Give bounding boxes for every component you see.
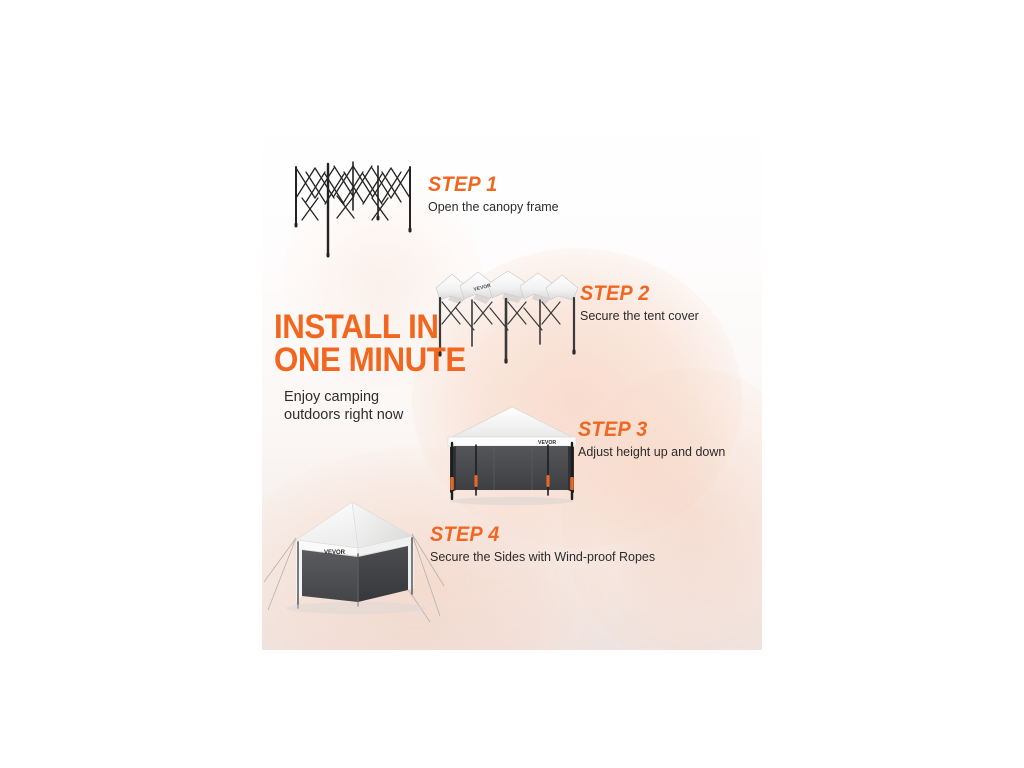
step-2-text-block: STEP 2 Secure the tent cover xyxy=(580,283,699,325)
headline-block: INSTALL IN ONE MINUTE Enjoy camping outd… xyxy=(274,311,482,425)
infographic-stage: VEVOR xyxy=(0,0,1024,768)
brand-mark-step4: VEVOR xyxy=(324,550,346,556)
step-3-description: Adjust height up and down xyxy=(578,445,725,461)
headline-line-1: INSTALL IN xyxy=(274,311,466,344)
step-2-title: STEP 2 xyxy=(580,283,692,304)
step-1-text-block: STEP 1 Open the canopy frame xyxy=(428,174,559,216)
step-3-text-block: STEP 3 Adjust height up and down xyxy=(578,419,725,461)
step-3-title: STEP 3 xyxy=(578,419,717,440)
step-4-text-block: STEP 4 Secure the Sides with Wind-proof … xyxy=(430,524,655,566)
step-1-illustration xyxy=(282,158,432,263)
headline-subtitle-line-2: outdoors right now xyxy=(284,406,482,425)
step-4-title: STEP 4 xyxy=(430,524,642,545)
step-1-description: Open the canopy frame xyxy=(428,200,559,216)
headline-subtitle-line-1: Enjoy camping xyxy=(284,388,482,407)
brand-mark-step3: VEVOR xyxy=(538,440,556,446)
step-1-title: STEP 1 xyxy=(428,174,551,195)
step-4-description: Secure the Sides with Wind-proof Ropes xyxy=(430,550,655,566)
step-4-illustration: VEVOR xyxy=(262,490,447,635)
headline-line-2: ONE MINUTE xyxy=(274,344,466,377)
step-2-description: Secure the tent cover xyxy=(580,309,699,325)
infographic-canvas: VEVOR xyxy=(262,118,762,650)
